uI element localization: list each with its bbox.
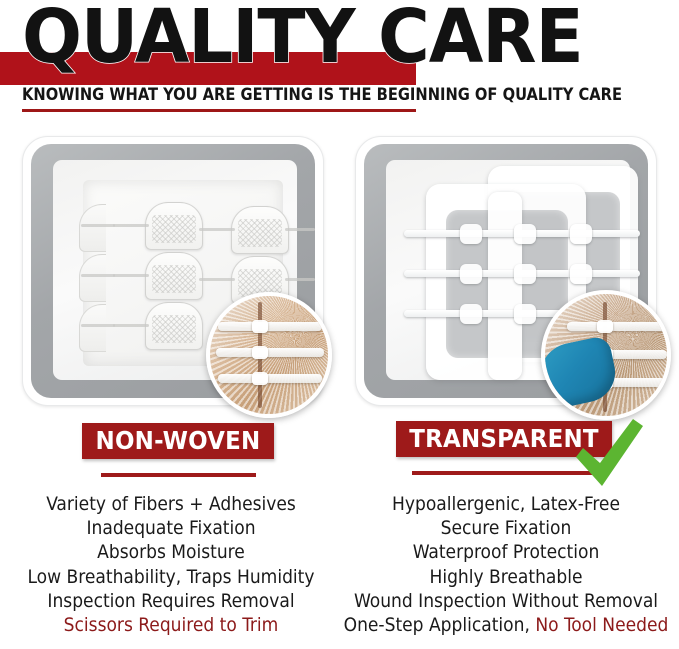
header-banner: QUALITY CARE KNOWING WHAT YOU ARE GETTIN… [0, 0, 679, 118]
dressing-cutout [145, 202, 203, 250]
feature-text-plain: One-Step Application, [344, 614, 536, 636]
page-title: QUALITY CARE [22, 0, 679, 80]
banner-underline-right [412, 471, 592, 475]
feature-item: Secure Fixation [341, 516, 671, 540]
dressing-tail [81, 324, 115, 327]
closure-strip [218, 374, 322, 383]
dressing-tail [113, 224, 149, 227]
dressing-cutout [231, 206, 289, 254]
banner-underline-left [101, 473, 256, 477]
inset-photo-transparent [541, 290, 671, 420]
feature-item: Inadequate Fixation [6, 516, 336, 540]
page-subtitle: KNOWING WHAT YOU ARE GETTING IS THE BEGI… [22, 86, 656, 104]
closure-node [252, 372, 268, 385]
feature-item-accent: Scissors Required to Trim [6, 613, 336, 637]
feature-item: Wound Inspection Without Removal [341, 589, 671, 613]
feature-item: Hypoallergenic, Latex-Free [341, 492, 671, 516]
dressing-tail [199, 278, 235, 281]
closure-node [514, 264, 536, 284]
dressing-cutout-partial [79, 254, 106, 302]
closure-node [252, 346, 268, 359]
feature-item: Variety of Fibers + Adhesives [6, 492, 336, 516]
dressing-tail [285, 278, 315, 281]
closure-strip [216, 348, 324, 357]
dressing-tail [81, 224, 115, 227]
film-center-strip [488, 192, 522, 380]
feature-list-transparent: Hypoallergenic, Latex-Free Secure Fixati… [341, 492, 671, 637]
dressing-cutout [145, 302, 203, 350]
feature-list-non-woven: Variety of Fibers + Adhesives Inadequate… [6, 492, 336, 637]
dressing-tail [113, 274, 149, 277]
closure-node [514, 304, 536, 324]
feature-item-mixed: One-Step Application, No Tool Needed [341, 613, 671, 637]
dressing-cutout-partial [79, 304, 106, 352]
closure-node [570, 264, 592, 284]
dressing-cutout [145, 252, 203, 300]
label-banner-non-woven: NON-WOVEN [82, 423, 274, 459]
closure-node [570, 224, 592, 244]
dressing-cutout-partial [79, 204, 106, 252]
dressing-tail [199, 228, 235, 231]
inset-photo-non-woven [206, 292, 332, 418]
feature-item: Inspection Requires Removal [6, 589, 336, 613]
dressing-tail [113, 324, 149, 327]
feature-item: Low Breathability, Traps Humidity [6, 565, 336, 589]
green-checkmark-icon [573, 417, 645, 489]
feature-item: Highly Breathable [341, 565, 671, 589]
dressing-tail [81, 274, 115, 277]
closure-node [460, 304, 482, 324]
closure-node [597, 320, 613, 333]
closure-strip [218, 322, 322, 331]
feature-text-accent: No Tool Needed [535, 614, 668, 636]
label-text-non-woven: NON-WOVEN [80, 423, 276, 459]
closure-strip [567, 322, 665, 331]
subtitle-underline [22, 109, 416, 112]
dressing-tail [285, 228, 315, 231]
closure-node [460, 224, 482, 244]
closure-node [514, 224, 536, 244]
closure-node [252, 320, 268, 333]
feature-item: Absorbs Moisture [6, 540, 336, 564]
feature-item: Waterproof Protection [341, 540, 671, 564]
closure-node [460, 264, 482, 284]
